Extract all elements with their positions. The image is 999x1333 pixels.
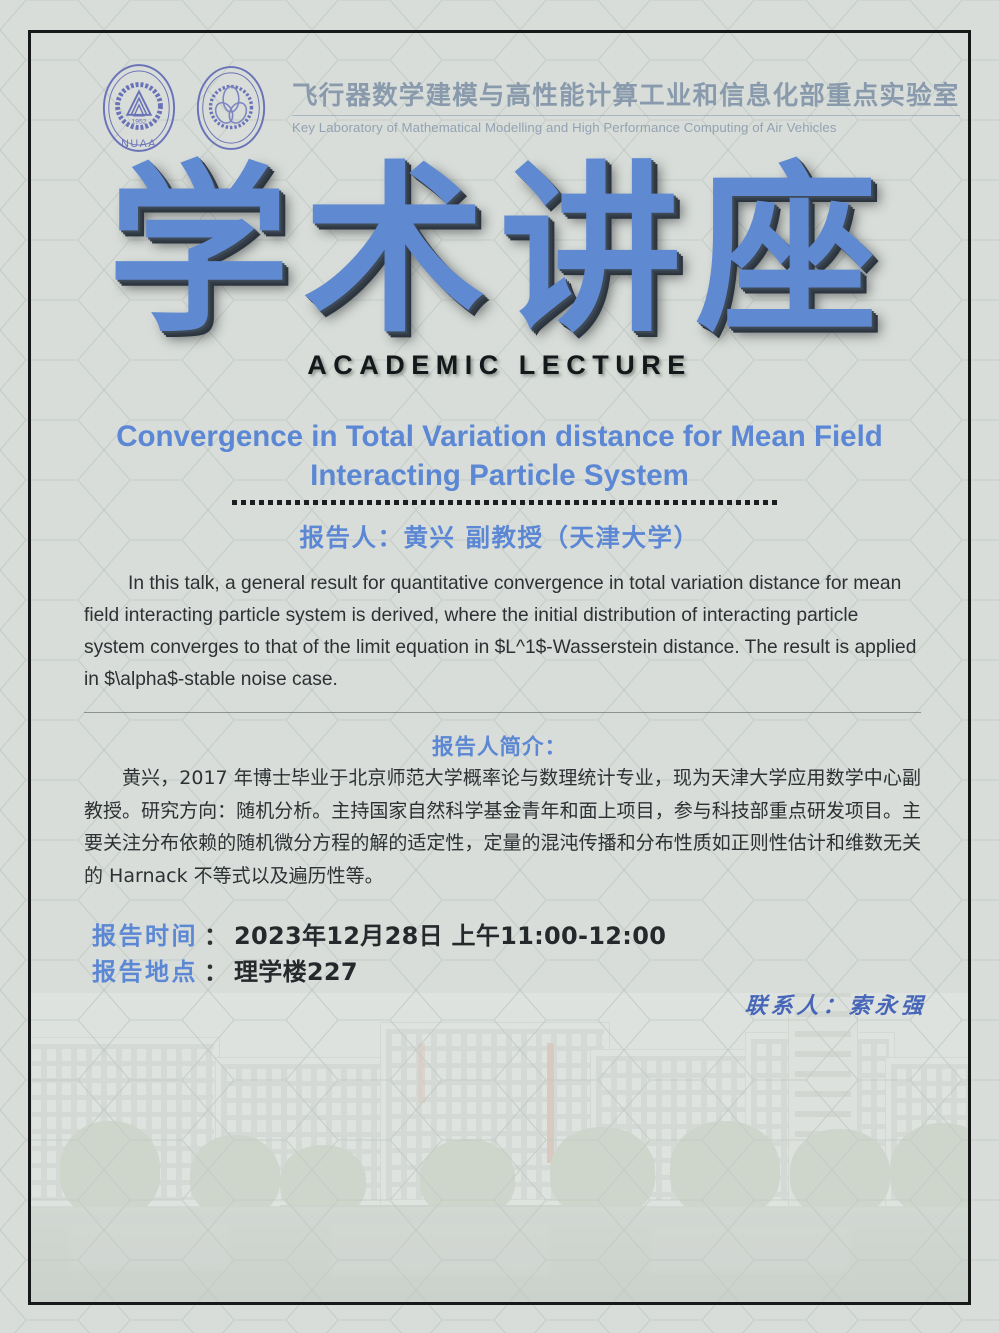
lecture-title: Convergence in Total Variation distance … (78, 418, 921, 496)
event-time-row: 报告时间 ： 2023年12月28日 上午11:00-12:00 (92, 918, 666, 954)
speaker-line: 报告人：黄兴 副教授（天津大学） (0, 519, 999, 554)
dotted-divider (232, 500, 777, 505)
lab-name-en: Key Laboratory of Mathematical Modelling… (292, 120, 960, 135)
event-time-separator: ： (204, 918, 228, 954)
event-time-label: 报告时间 (92, 918, 198, 954)
section-divider (84, 712, 921, 713)
lecture-abstract: In this talk, a general result for quant… (84, 568, 921, 696)
bio-heading: 报告人简介： (0, 730, 999, 761)
contact-person: 联系人：索永强 (744, 988, 928, 1020)
nuaa-seal-icon: 1952 NUAA (100, 62, 178, 154)
event-time-value: 2023年12月28日 上午11:00-12:00 (234, 918, 666, 954)
event-details: 报告时间 ： 2023年12月28日 上午11:00-12:00 报告地点 ： … (92, 918, 666, 991)
event-place-label: 报告地点 (92, 954, 198, 990)
poster-root: 1952 NUAA 飞行器数学建模与高性能计算工业和信息化部重点实验室 Key … (0, 0, 999, 1333)
header-divider (292, 115, 960, 116)
lab-seal-icon (192, 62, 270, 154)
bio-body: 黄兴，2017 年博士毕业于北京师范大学概率论与数理统计专业，现为天津大学应用数… (84, 762, 921, 893)
event-place-row: 报告地点 ： 理学楼227 (92, 954, 666, 990)
banner-title-en: ACADEMIC LECTURE (0, 350, 999, 381)
lab-name-cn: 飞行器数学建模与高性能计算工业和信息化部重点实验室 (292, 81, 960, 113)
banner-title-cn: 学术讲座 (0, 160, 999, 342)
lab-header: 1952 NUAA 飞行器数学建模与高性能计算工业和信息化部重点实验室 Key … (100, 62, 905, 154)
event-place-separator: ： (204, 954, 228, 990)
event-place-value: 理学楼227 (234, 954, 358, 990)
svg-text:1952: 1952 (131, 119, 146, 126)
